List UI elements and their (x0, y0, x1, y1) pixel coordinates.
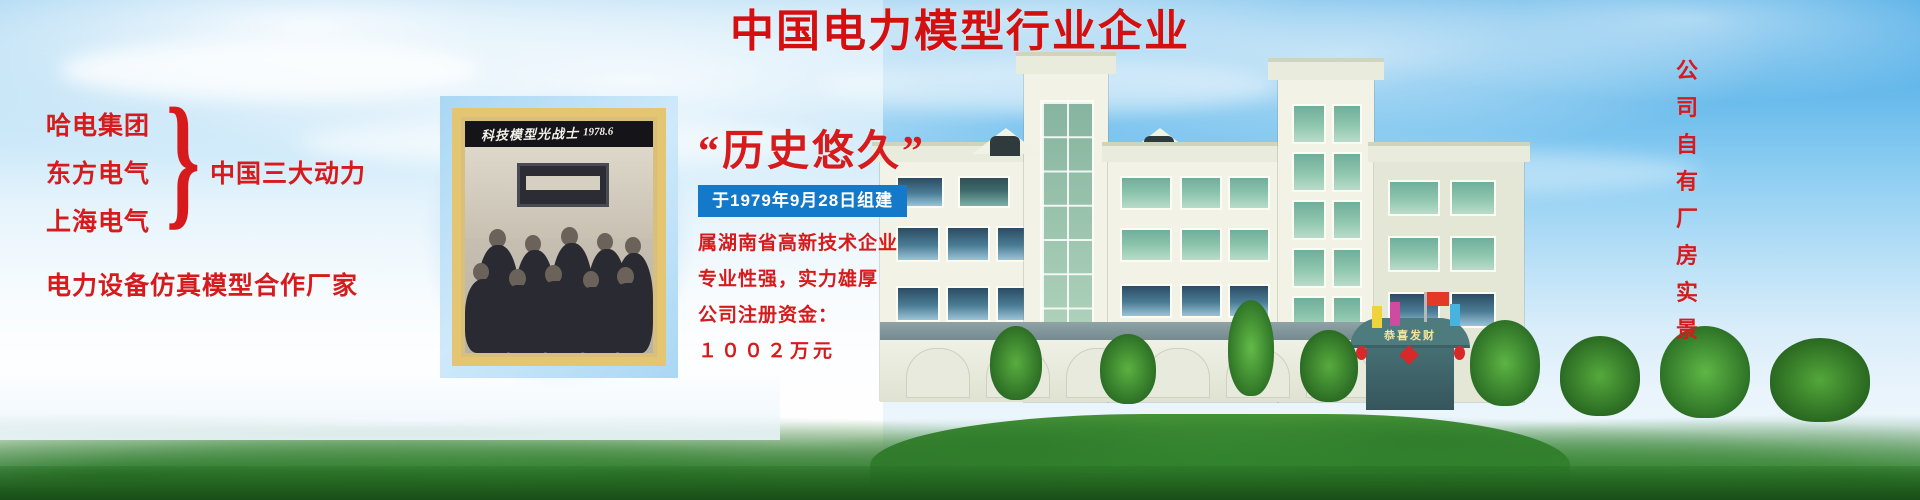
center-line: 属湖南省高新技术企业 (698, 234, 978, 253)
tree (1300, 330, 1358, 402)
red-flag-icon (1427, 292, 1449, 306)
vertical-char: 自 (1676, 134, 1698, 156)
headline: “历史悠久” (698, 130, 978, 173)
promo-banner: 恭喜发财 中国电力模型行业企业 哈电集团 东方电气 上海电气 } 中国三大动力 … (0, 0, 1920, 500)
vertical-char: 有 (1676, 171, 1698, 193)
lantern-icon (1454, 346, 1465, 360)
tree (1228, 300, 1274, 396)
vertical-char: 景 (1676, 319, 1698, 341)
vertical-char: 厂 (1676, 208, 1698, 230)
tree (990, 326, 1042, 400)
vintage-group-photo: 科技模型光战士 1978.6 (465, 121, 653, 353)
brand-item: 东方电气 (46, 162, 150, 187)
left-tagline: 电力设备仿真模型合作厂家 (46, 274, 358, 299)
vertical-char: 司 (1676, 97, 1698, 119)
brand-item: 哈电集团 (46, 114, 150, 139)
pennant-icon (1390, 302, 1400, 326)
photo-banner-text: 科技模型光战士 (481, 123, 579, 145)
photo-banner-year: 1978.6 (583, 126, 614, 139)
close-quote: ” (902, 129, 926, 175)
photo-cabinet (517, 163, 609, 207)
page-title: 中国电力模型行业企业 (0, 10, 1920, 54)
photo-people (465, 225, 653, 353)
gate-text: 恭喜发财 (1350, 327, 1470, 343)
center-line: 专业性强，实力雄厚 (698, 270, 978, 289)
brace-icon: } (166, 106, 200, 213)
entrance-gate: 恭喜发财 (1350, 318, 1470, 410)
tree (1100, 334, 1156, 404)
headline-text: 历史悠久 (722, 127, 902, 174)
center-line: 公司注册资金： (698, 306, 978, 325)
brand-item: 上海电气 (46, 210, 150, 235)
tree (1470, 320, 1540, 406)
right-vertical-caption: 公 司 自 有 厂 房 实 景 (1676, 60, 1698, 356)
open-quote: “ (698, 129, 722, 175)
vertical-char: 房 (1676, 245, 1698, 267)
foreground-greenery-base (0, 466, 1920, 500)
left-text-block: 哈电集团 东方电气 上海电气 } 中国三大动力 电力设备仿真模型合作厂家 (38, 104, 378, 224)
vertical-char: 公 (1676, 60, 1698, 82)
brand-list: 哈电集团 东方电气 上海电气 } 中国三大动力 (38, 104, 378, 224)
founding-date-badge: 于1979年9月28日组建 (698, 185, 907, 217)
pennant-icon (1450, 304, 1460, 326)
center-text-block: “历史悠久” 于1979年9月28日组建 属湖南省高新技术企业 专业性强，实力雄… (698, 130, 978, 361)
photo-banner: 科技模型光战士 1978.6 (465, 121, 653, 147)
brace-label: 中国三大动力 (210, 162, 366, 187)
registered-capital: １００２万元 (698, 342, 978, 361)
lantern-icon (1356, 346, 1367, 360)
pennant-icon (1372, 306, 1382, 328)
vertical-char: 实 (1676, 282, 1698, 304)
